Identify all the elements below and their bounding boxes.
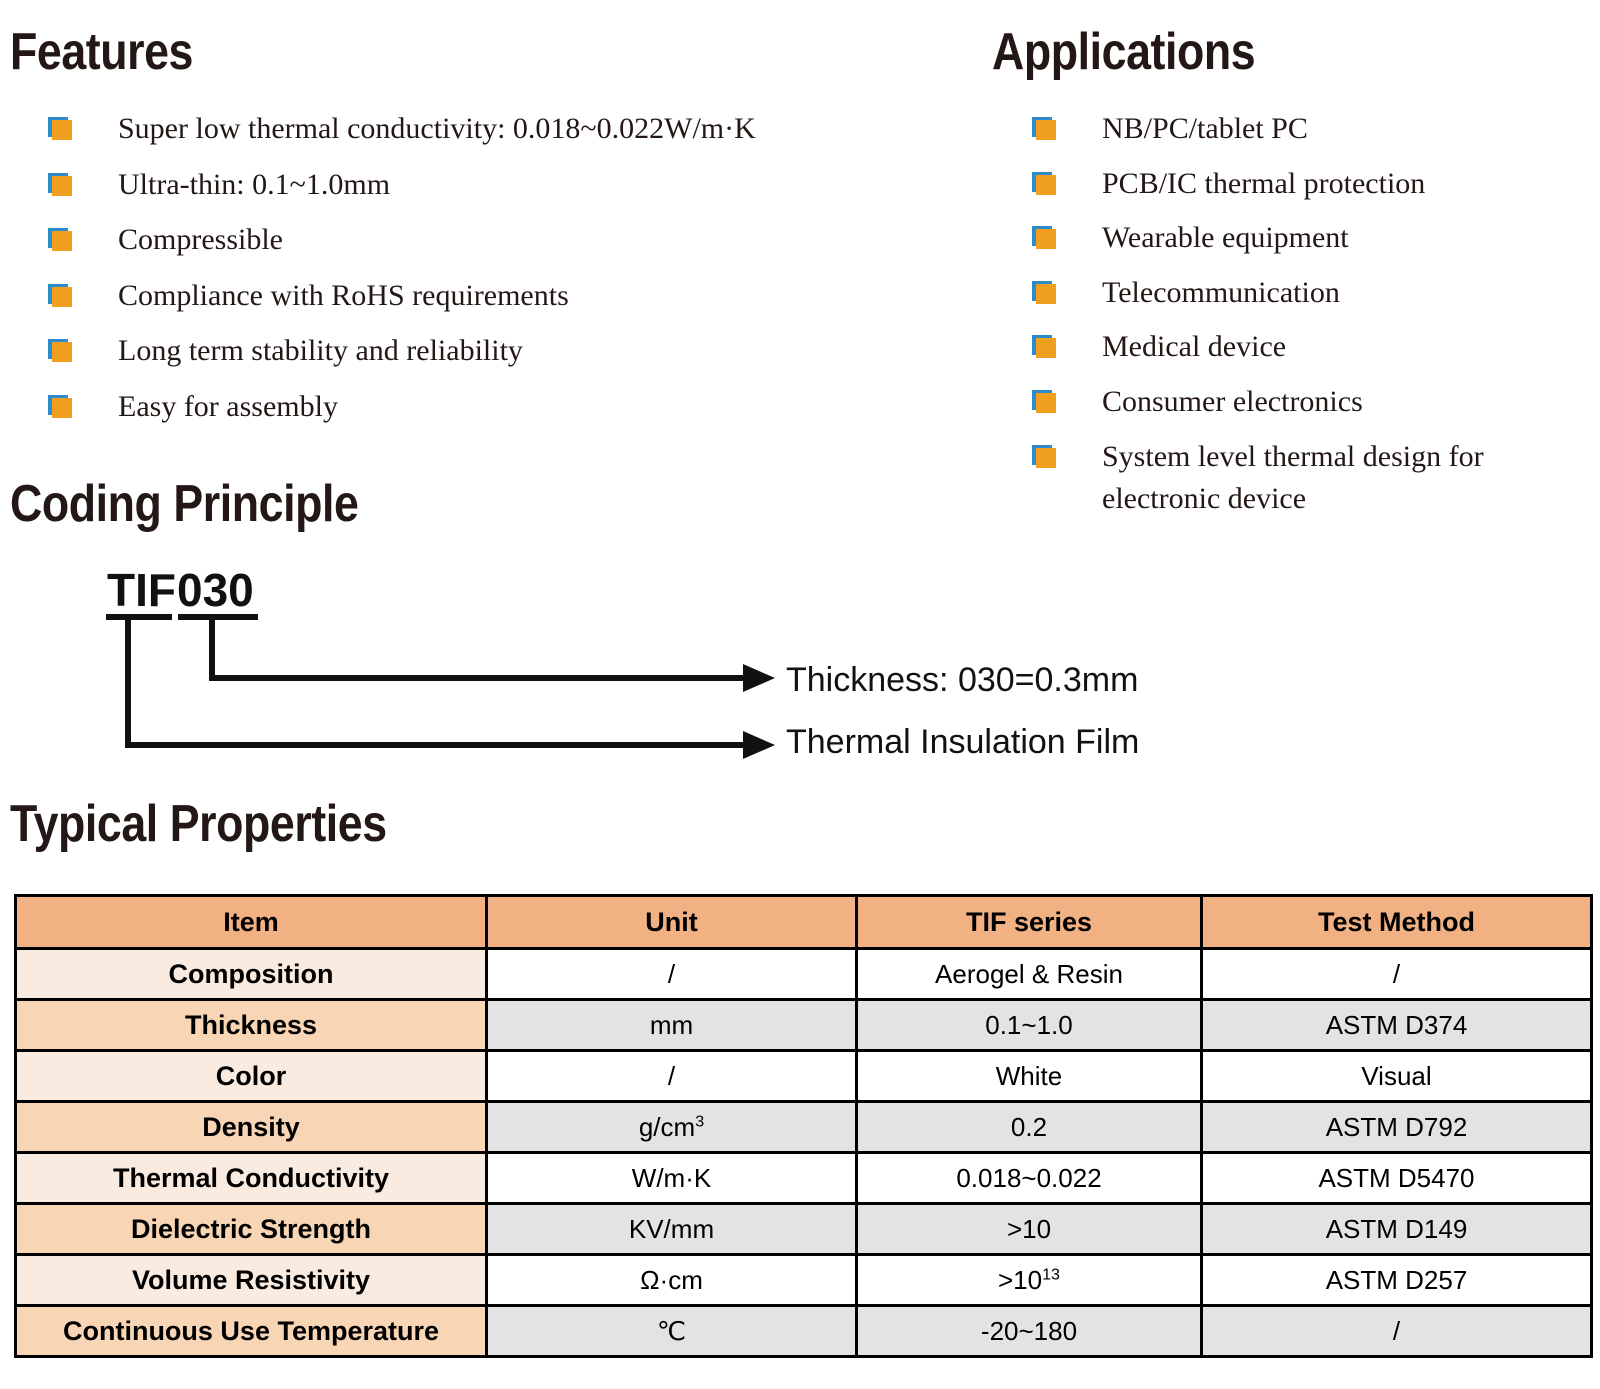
feature-text: Compressible: [118, 219, 283, 262]
cell-series-text: Aerogel & Resin: [935, 959, 1123, 989]
cell-method: ASTM D374: [1202, 1000, 1592, 1051]
list-item: Medical device: [1032, 326, 1552, 369]
list-item: Long term stability and reliability: [48, 330, 928, 373]
orange-square-bullet-icon: [48, 228, 72, 251]
underline-prefix: [106, 614, 172, 620]
cell-series: >10: [857, 1204, 1202, 1255]
list-item: Consumer electronics: [1032, 381, 1552, 424]
list-item: Wearable equipment: [1032, 217, 1552, 260]
typical-properties-heading: Typical Properties: [10, 798, 387, 850]
cell-unit: ℃: [487, 1306, 857, 1357]
cell-unit-text: /: [668, 1061, 675, 1091]
application-text: Consumer electronics: [1102, 381, 1363, 424]
feature-text: Long term stability and reliability: [118, 330, 523, 373]
list-item: Super low thermal conductivity: 0.018~0.…: [48, 108, 928, 151]
applications-heading: Applications: [992, 26, 1255, 78]
column-header-unit: Unit: [487, 896, 857, 949]
cell-method: /: [1202, 949, 1592, 1000]
table-row: Continuous Use Temperature ℃ -20~180 /: [16, 1306, 1592, 1357]
cell-unit-text: Ω·cm: [640, 1265, 703, 1295]
orange-square-bullet-icon: [1032, 445, 1056, 468]
arrowhead-prefix: [743, 731, 775, 759]
orange-square-bullet-icon: [1032, 281, 1056, 304]
cell-series: 0.2: [857, 1102, 1202, 1153]
cell-series: 0.1~1.0: [857, 1000, 1202, 1051]
cell-series-text: 0.1~1.0: [985, 1010, 1072, 1040]
table-row: Thermal Conductivity W/m·K 0.018~0.022 A…: [16, 1153, 1592, 1204]
table-row: Color / White Visual: [16, 1051, 1592, 1102]
cell-method: Visual: [1202, 1051, 1592, 1102]
cell-unit-text: /: [668, 959, 675, 989]
feature-text: Super low thermal conductivity: 0.018~0.…: [118, 108, 756, 151]
orange-square-bullet-icon: [48, 173, 72, 196]
cell-series: -20~180: [857, 1306, 1202, 1357]
cell-series-text: >10: [1007, 1214, 1051, 1244]
list-item: Ultra-thin: 0.1~1.0mm: [48, 164, 928, 207]
list-item: Compliance with RoHS requirements: [48, 275, 928, 318]
coding-label-film: Thermal Insulation Film: [786, 725, 1139, 759]
cell-series-text: -20~180: [981, 1316, 1077, 1346]
column-header-method: Test Method: [1202, 896, 1592, 949]
cell-unit: /: [487, 949, 857, 1000]
features-heading: Features: [10, 26, 193, 78]
list-item: System level thermal design for electron…: [1032, 436, 1552, 521]
cell-unit: g/cm3: [487, 1102, 857, 1153]
table-row: Thickness mm 0.1~1.0 ASTM D374: [16, 1000, 1592, 1051]
typical-properties-table: Item Unit TIF series Test Method Composi…: [14, 894, 1593, 1358]
cell-method: ASTM D149: [1202, 1204, 1592, 1255]
list-item: Compressible: [48, 219, 928, 262]
cell-item: Color: [16, 1051, 487, 1102]
cell-item: Dielectric Strength: [16, 1204, 487, 1255]
orange-square-bullet-icon: [48, 339, 72, 362]
orange-square-bullet-icon: [48, 284, 72, 307]
orange-square-bullet-icon: [1032, 335, 1056, 358]
list-item: PCB/IC thermal protection: [1032, 163, 1552, 206]
cell-item: Density: [16, 1102, 487, 1153]
application-text: Telecommunication: [1102, 272, 1340, 315]
list-item: Telecommunication: [1032, 272, 1552, 315]
orange-square-bullet-icon: [1032, 117, 1056, 140]
cell-series-text: White: [996, 1061, 1062, 1091]
cell-unit: /: [487, 1051, 857, 1102]
cell-series: >1013: [857, 1255, 1202, 1306]
cell-method: ASTM D792: [1202, 1102, 1592, 1153]
column-header-item: Item: [16, 896, 487, 949]
features-list: Super low thermal conductivity: 0.018~0.…: [48, 108, 928, 442]
table-row: Density g/cm3 0.2 ASTM D792: [16, 1102, 1592, 1153]
coding-principle-heading: Coding Principle: [10, 478, 358, 530]
cell-series-superscript: 13: [1042, 1265, 1060, 1283]
cell-series-text: >10: [998, 1265, 1042, 1295]
cell-series-text: 0.018~0.022: [956, 1163, 1101, 1193]
cell-unit-text: W/m·K: [632, 1163, 711, 1193]
cell-method: ASTM D5470: [1202, 1153, 1592, 1204]
cell-unit-superscript: 3: [695, 1112, 704, 1130]
feature-text: Ultra-thin: 0.1~1.0mm: [118, 164, 390, 207]
orange-square-bullet-icon: [1032, 172, 1056, 195]
cell-series: White: [857, 1051, 1202, 1102]
orange-square-bullet-icon: [48, 395, 72, 418]
cell-unit: mm: [487, 1000, 857, 1051]
connector-line-suffix: [212, 620, 748, 678]
cell-item: Thickness: [16, 1000, 487, 1051]
table-row: Volume Resistivity Ω·cm >1013 ASTM D257: [16, 1255, 1592, 1306]
application-text: Wearable equipment: [1102, 217, 1349, 260]
cell-unit-text: ℃: [657, 1316, 686, 1346]
table-row: Composition / Aerogel & Resin /: [16, 949, 1592, 1000]
cell-item: Continuous Use Temperature: [16, 1306, 487, 1357]
cell-item: Thermal Conductivity: [16, 1153, 487, 1204]
cell-unit-text: KV/mm: [629, 1214, 714, 1244]
application-text: PCB/IC thermal protection: [1102, 163, 1425, 206]
underline-suffix: [178, 614, 258, 620]
cell-item: Volume Resistivity: [16, 1255, 487, 1306]
orange-square-bullet-icon: [1032, 390, 1056, 413]
application-text: Medical device: [1102, 326, 1286, 369]
connector-line-prefix: [128, 620, 748, 745]
cell-unit-text: mm: [650, 1010, 693, 1040]
feature-text: Compliance with RoHS requirements: [118, 275, 569, 318]
orange-square-bullet-icon: [1032, 226, 1056, 249]
table-row: Dielectric Strength KV/mm >10 ASTM D149: [16, 1204, 1592, 1255]
cell-unit: KV/mm: [487, 1204, 857, 1255]
orange-square-bullet-icon: [48, 117, 72, 140]
list-item: NB/PC/tablet PC: [1032, 108, 1552, 151]
coding-label-thickness: Thickness: 030=0.3mm: [786, 663, 1138, 697]
applications-list: NB/PC/tablet PC PCB/IC thermal protectio…: [1032, 108, 1552, 533]
cell-unit: Ω·cm: [487, 1255, 857, 1306]
cell-item: Composition: [16, 949, 487, 1000]
cell-series: Aerogel & Resin: [857, 949, 1202, 1000]
application-text: System level thermal design for electron…: [1102, 436, 1552, 521]
cell-unit-text: g/cm: [639, 1112, 695, 1142]
cell-method: ASTM D257: [1202, 1255, 1592, 1306]
feature-text: Easy for assembly: [118, 386, 338, 429]
list-item: Easy for assembly: [48, 386, 928, 429]
cell-series: 0.018~0.022: [857, 1153, 1202, 1204]
cell-series-text: 0.2: [1011, 1112, 1047, 1142]
cell-method: /: [1202, 1306, 1592, 1357]
application-text: NB/PC/tablet PC: [1102, 108, 1308, 151]
table-body: Composition / Aerogel & Resin / Thicknes…: [16, 949, 1592, 1357]
arrowhead-suffix: [743, 664, 775, 692]
table-header-row: Item Unit TIF series Test Method: [16, 896, 1592, 949]
column-header-series: TIF series: [857, 896, 1202, 949]
cell-unit: W/m·K: [487, 1153, 857, 1204]
